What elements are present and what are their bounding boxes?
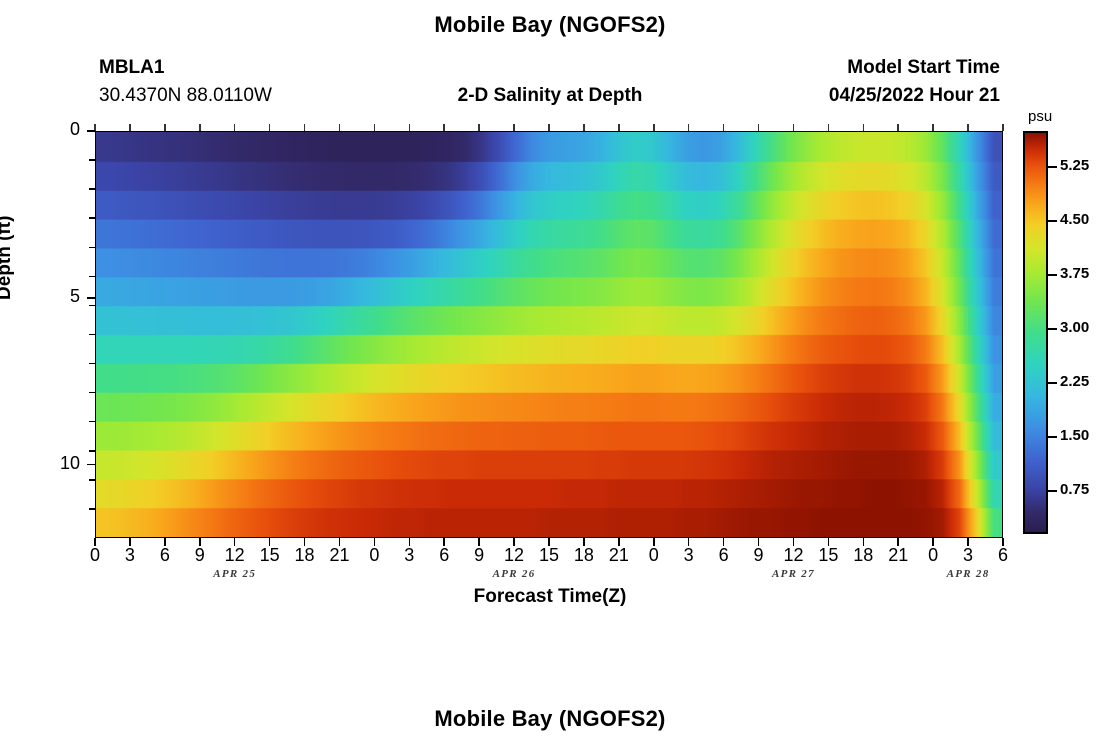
y-axis-title: Depth (ft) [0, 216, 16, 300]
x-axis-tick-top [548, 124, 550, 131]
colorbar-tick [1048, 328, 1057, 330]
y-axis-minor-tick [89, 479, 95, 481]
y-axis-tick [87, 297, 95, 299]
x-axis-tick-top [897, 124, 899, 131]
x-axis-date-label: APR 28 [923, 568, 1013, 580]
colorbar-tick [1048, 382, 1057, 384]
x-axis-tick-top [269, 124, 271, 131]
heatmap-plot [95, 131, 1003, 538]
colorbar-tick [1048, 490, 1057, 492]
x-axis-tick-label: 6 [983, 545, 1023, 566]
x-axis-tick-top [164, 124, 166, 131]
model-start-time-label: Model Start Time [698, 57, 1000, 79]
colorbar-tick-label: 5.25 [1060, 157, 1089, 174]
y-axis-minor-tick [89, 305, 95, 307]
x-axis-tick-top [374, 124, 376, 131]
colorbar-tick-label: 2.25 [1060, 373, 1089, 390]
colorbar-tick-label: 1.50 [1060, 427, 1089, 444]
y-axis-minor-tick [89, 188, 95, 190]
x-axis-date-label: APR 27 [748, 568, 838, 580]
x-axis-tick-top [478, 124, 480, 131]
page-title: Mobile Bay (NGOFS2) [0, 12, 1100, 38]
x-axis-tick-top [967, 124, 969, 131]
x-axis-tick-top [409, 124, 411, 131]
station-id-label: MBLA1 [99, 57, 164, 79]
x-axis-tick-top [199, 124, 201, 131]
y-axis-tick-label: 0 [44, 119, 80, 140]
colorbar-tick-label: 0.75 [1060, 481, 1089, 498]
y-axis-minor-tick [89, 363, 95, 365]
colorbar-tick-label: 3.75 [1060, 265, 1089, 282]
x-axis-tick-top [758, 124, 760, 131]
x-axis-tick-top [828, 124, 830, 131]
x-axis-tick-top [234, 124, 236, 131]
y-axis-minor-tick [89, 334, 95, 336]
x-axis-tick-top [723, 124, 725, 131]
y-axis-minor-tick [89, 276, 95, 278]
y-axis-tick-label: 10 [44, 453, 80, 474]
bottom-title: Mobile Bay (NGOFS2) [0, 706, 1100, 732]
x-axis-tick-top [339, 124, 341, 131]
y-axis-minor-tick [89, 421, 95, 423]
heatmap-canvas [96, 132, 1002, 537]
x-axis-tick-top [129, 124, 131, 131]
chart-page: Mobile Bay (NGOFS2) MBLA1 30.4370N 88.01… [0, 0, 1100, 750]
colorbar-tick [1048, 220, 1057, 222]
y-axis-minor-tick [89, 159, 95, 161]
y-axis-minor-tick [89, 392, 95, 394]
y-axis-minor-tick [89, 508, 95, 510]
y-axis-minor-tick [89, 450, 95, 452]
colorbar [1023, 131, 1048, 534]
x-axis-tick-top [443, 124, 445, 131]
x-axis-tick-top [583, 124, 585, 131]
x-axis-date-label: APR 26 [469, 568, 559, 580]
x-axis-tick-top [1002, 124, 1004, 131]
y-axis-minor-tick [89, 247, 95, 249]
x-axis-tick-top [304, 124, 306, 131]
model-start-time-value: 04/25/2022 Hour 21 [698, 85, 1000, 107]
x-axis-tick-top [793, 124, 795, 131]
x-axis-title: Forecast Time(Z) [0, 586, 1100, 608]
colorbar-tick-label: 3.00 [1060, 319, 1089, 336]
x-axis-tick-top [863, 124, 865, 131]
y-axis-tick [87, 130, 95, 132]
x-axis-tick-top [688, 124, 690, 131]
x-axis-tick-top [618, 124, 620, 131]
colorbar-tick [1048, 274, 1057, 276]
y-axis-tick-label: 5 [44, 286, 80, 307]
y-axis-tick [87, 464, 95, 466]
colorbar-tick [1048, 166, 1057, 168]
x-axis-date-label: APR 25 [190, 568, 280, 580]
x-axis-tick-top [513, 124, 515, 131]
x-axis-tick-top [932, 124, 934, 131]
colorbar-tick [1048, 436, 1057, 438]
x-axis-tick-top [653, 124, 655, 131]
colorbar-gradient [1025, 133, 1046, 532]
colorbar-tick-label: 4.50 [1060, 211, 1089, 228]
y-axis-minor-tick [89, 217, 95, 219]
colorbar-unit-label: psu [1028, 108, 1052, 125]
